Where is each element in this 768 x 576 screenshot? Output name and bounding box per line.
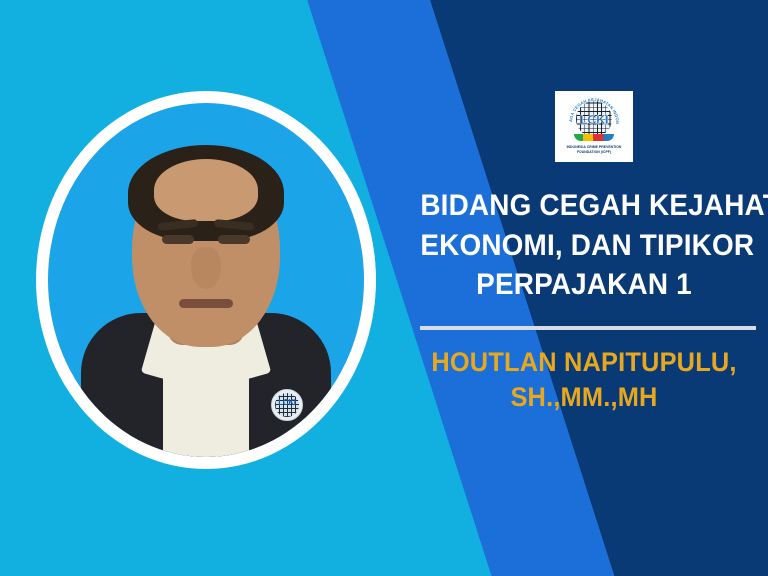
- portrait-forehead: [154, 159, 258, 221]
- person-name: HOUTLAN NAPITUPULU, SH.,MM.,MH: [408, 345, 760, 415]
- department-title: BIDANG CEGAH KEJAHATAN EKONOMI, DAN TIPI…: [408, 186, 760, 305]
- name-line-2: SH.,MM.,MH: [419, 380, 750, 415]
- portrait-image: LCKI: [48, 103, 364, 457]
- organization-logo: LEMBAGA CEGAH KEJAHATAN INDONESIA LCKI I…: [555, 91, 633, 162]
- portrait-nose: [191, 247, 221, 289]
- title-line-2: EKONOMI, DAN TIPIKOR: [420, 226, 747, 266]
- portrait-eye-left: [162, 235, 194, 244]
- portrait-eye-right: [218, 235, 250, 244]
- lapel-pin-label: LCKI: [272, 399, 302, 407]
- title-line-1: BIDANG CEGAH KEJAHATAN: [420, 186, 747, 226]
- logo-acronym: LCKI: [567, 113, 621, 126]
- lapel-pin-icon: LCKI: [271, 389, 303, 421]
- logo-emblem: LEMBAGA CEGAH KEJAHATAN INDONESIA LCKI: [567, 94, 621, 144]
- portrait-photo: LCKI: [36, 91, 376, 469]
- profile-poster: LCKI LEMBAGA CEGAH KEJAHATAN INDONESIA L…: [0, 0, 768, 576]
- logo-ribbon-icon: [574, 134, 614, 141]
- name-line-1: HOUTLAN NAPITUPULU,: [419, 345, 750, 380]
- title-line-3: PERPAJAKAN 1: [420, 265, 747, 305]
- logo-caption-line2: FOUNDATION (ICPF): [557, 150, 631, 155]
- divider: [420, 326, 756, 330]
- portrait-mouth: [179, 299, 233, 308]
